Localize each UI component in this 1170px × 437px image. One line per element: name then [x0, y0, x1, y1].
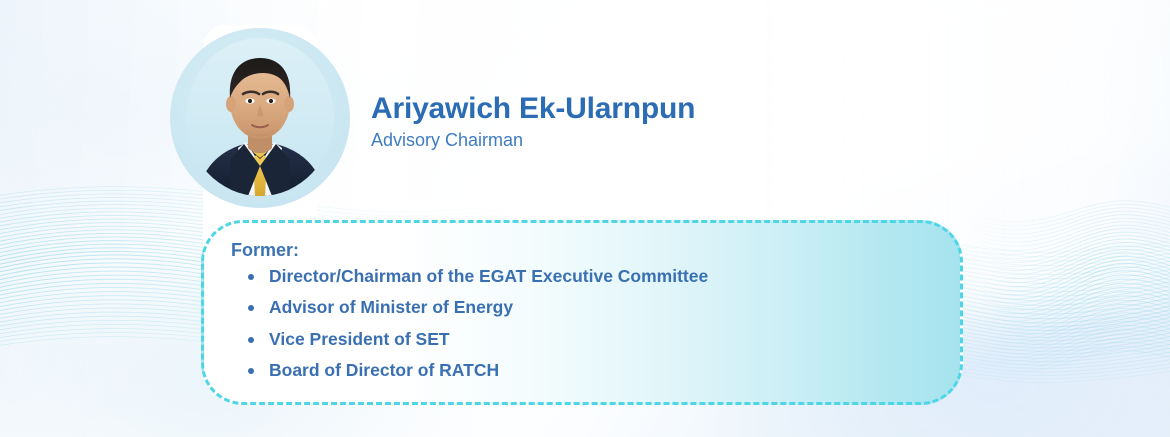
person-role: Advisory Chairman [371, 130, 523, 151]
list-item-label: Advisor of Minister of Energy [269, 297, 513, 317]
avatar [186, 38, 334, 196]
card-body: Former: Director/Chairman of the EGAT Ex… [231, 241, 940, 394]
bullet-dot-icon [248, 305, 254, 311]
list-item: Advisor of Minister of Energy [247, 299, 940, 317]
card-heading: Former: [231, 241, 940, 261]
bullet-dot-icon [248, 368, 254, 374]
list-item-label: Vice President of SET [269, 329, 450, 349]
profile-banner: Ariyawich Ek-Ularnpun Advisory Chairman … [0, 0, 1170, 437]
list-item-label: Board of Director of RATCH [269, 360, 499, 380]
list-item: Vice President of SET [247, 331, 940, 349]
list-item-label: Director/Chairman of the EGAT Executive … [269, 266, 708, 286]
page-title: Ariyawich Ek-Ularnpun [371, 92, 695, 126]
bullet-dot-icon [248, 337, 254, 343]
bullet-dot-icon [248, 274, 254, 280]
list-item: Board of Director of RATCH [247, 362, 940, 380]
list-item: Director/Chairman of the EGAT Executive … [247, 268, 940, 286]
former-positions-card: Former: Director/Chairman of the EGAT Ex… [201, 220, 963, 405]
former-positions-list: Director/Chairman of the EGAT Executive … [231, 268, 940, 380]
